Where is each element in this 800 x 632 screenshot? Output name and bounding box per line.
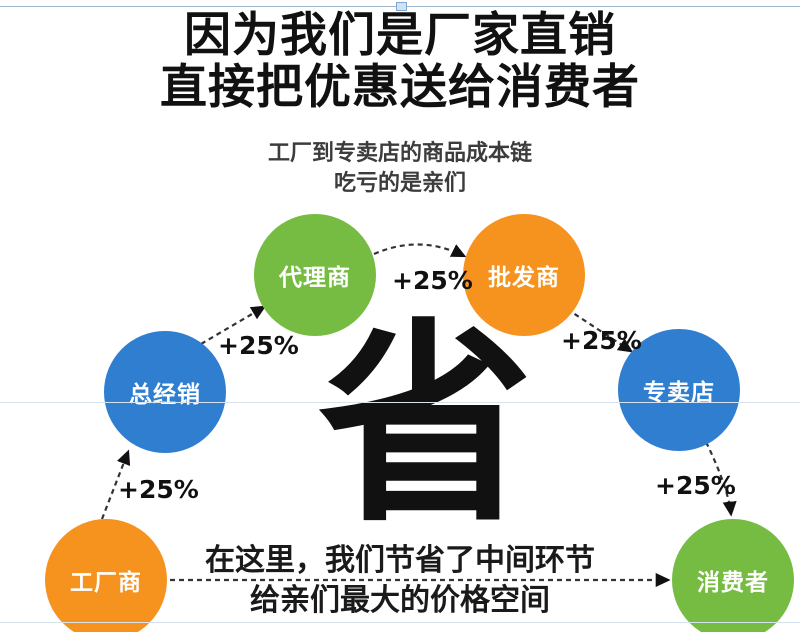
slogan-line-1: 在这里，我们节省了中间环节: [0, 543, 800, 579]
slogan-line-2: 给亲们最大的价格空间: [0, 583, 800, 619]
markup-label-agent-to-wholesaler: +25%: [392, 266, 473, 295]
node-label: 代理商: [279, 258, 351, 292]
node-label: 批发商: [488, 258, 560, 292]
slice-guide-line-middle: [0, 402, 800, 403]
markup-label-retailer-to-consumer: +25%: [655, 471, 736, 500]
node-agent[interactable]: 代理商: [254, 214, 376, 336]
headline-line-2: 直接把优惠送给消费者: [0, 62, 800, 114]
slice-guide-handle[interactable]: [396, 2, 407, 11]
subheadline-line-1: 工厂到专卖店的商品成本链: [0, 140, 800, 168]
subheadline-line-2: 吃亏的是亲们: [0, 170, 800, 198]
node-distributor[interactable]: 总经销: [104, 331, 226, 453]
markup-label-wholesaler-to-retailer: +25%: [561, 326, 642, 355]
arrow-agent-to-wholesaler: [374, 244, 464, 256]
node-label: 总经销: [129, 375, 201, 409]
node-wholesaler[interactable]: 批发商: [463, 214, 585, 336]
markup-label-distributor-to-agent: +25%: [218, 331, 299, 360]
infographic-canvas: 因为我们是厂家直销 直接把优惠送给消费者 工厂到专卖店的商品成本链 吃亏的是亲们…: [0, 0, 800, 632]
headline-line-1: 因为我们是厂家直销: [0, 10, 800, 62]
slice-guide-line-bottom: [0, 622, 800, 623]
markup-label-factory-to-distributor: +25%: [118, 475, 199, 504]
